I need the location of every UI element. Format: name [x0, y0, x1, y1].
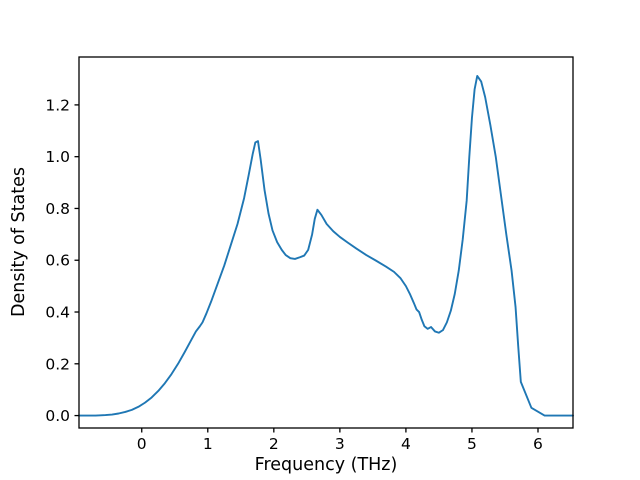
x-axis-label: Frequency (THz): [255, 455, 398, 475]
axes-background: [79, 57, 573, 428]
y-tick-label: 0.0: [45, 407, 70, 425]
y-tick-label: 0.2: [45, 355, 70, 373]
y-tick-label: 0.8: [45, 200, 70, 218]
x-tick-label: 6: [533, 435, 543, 453]
figure-canvas: 0123456 0.00.20.40.60.81.01.2 Frequency …: [0, 0, 640, 480]
x-tick-label: 0: [137, 435, 147, 453]
y-tick-label: 0.6: [45, 252, 70, 270]
x-tick-label: 5: [467, 435, 477, 453]
y-tick-label: 1.0: [45, 148, 70, 166]
chart-plot: 0123456 0.00.20.40.60.81.01.2 Frequency …: [0, 0, 640, 480]
x-tick-label: 3: [335, 435, 345, 453]
y-tick-label: 1.2: [45, 96, 70, 114]
x-tick-label: 2: [269, 435, 279, 453]
y-axis-ticks: 0.00.20.40.60.81.01.2: [45, 96, 79, 425]
y-tick-label: 0.4: [45, 304, 70, 322]
x-axis-ticks: 0123456: [137, 428, 543, 453]
y-axis-label: Density of States: [9, 167, 29, 317]
x-tick-label: 4: [401, 435, 411, 453]
x-tick-label: 1: [203, 435, 213, 453]
